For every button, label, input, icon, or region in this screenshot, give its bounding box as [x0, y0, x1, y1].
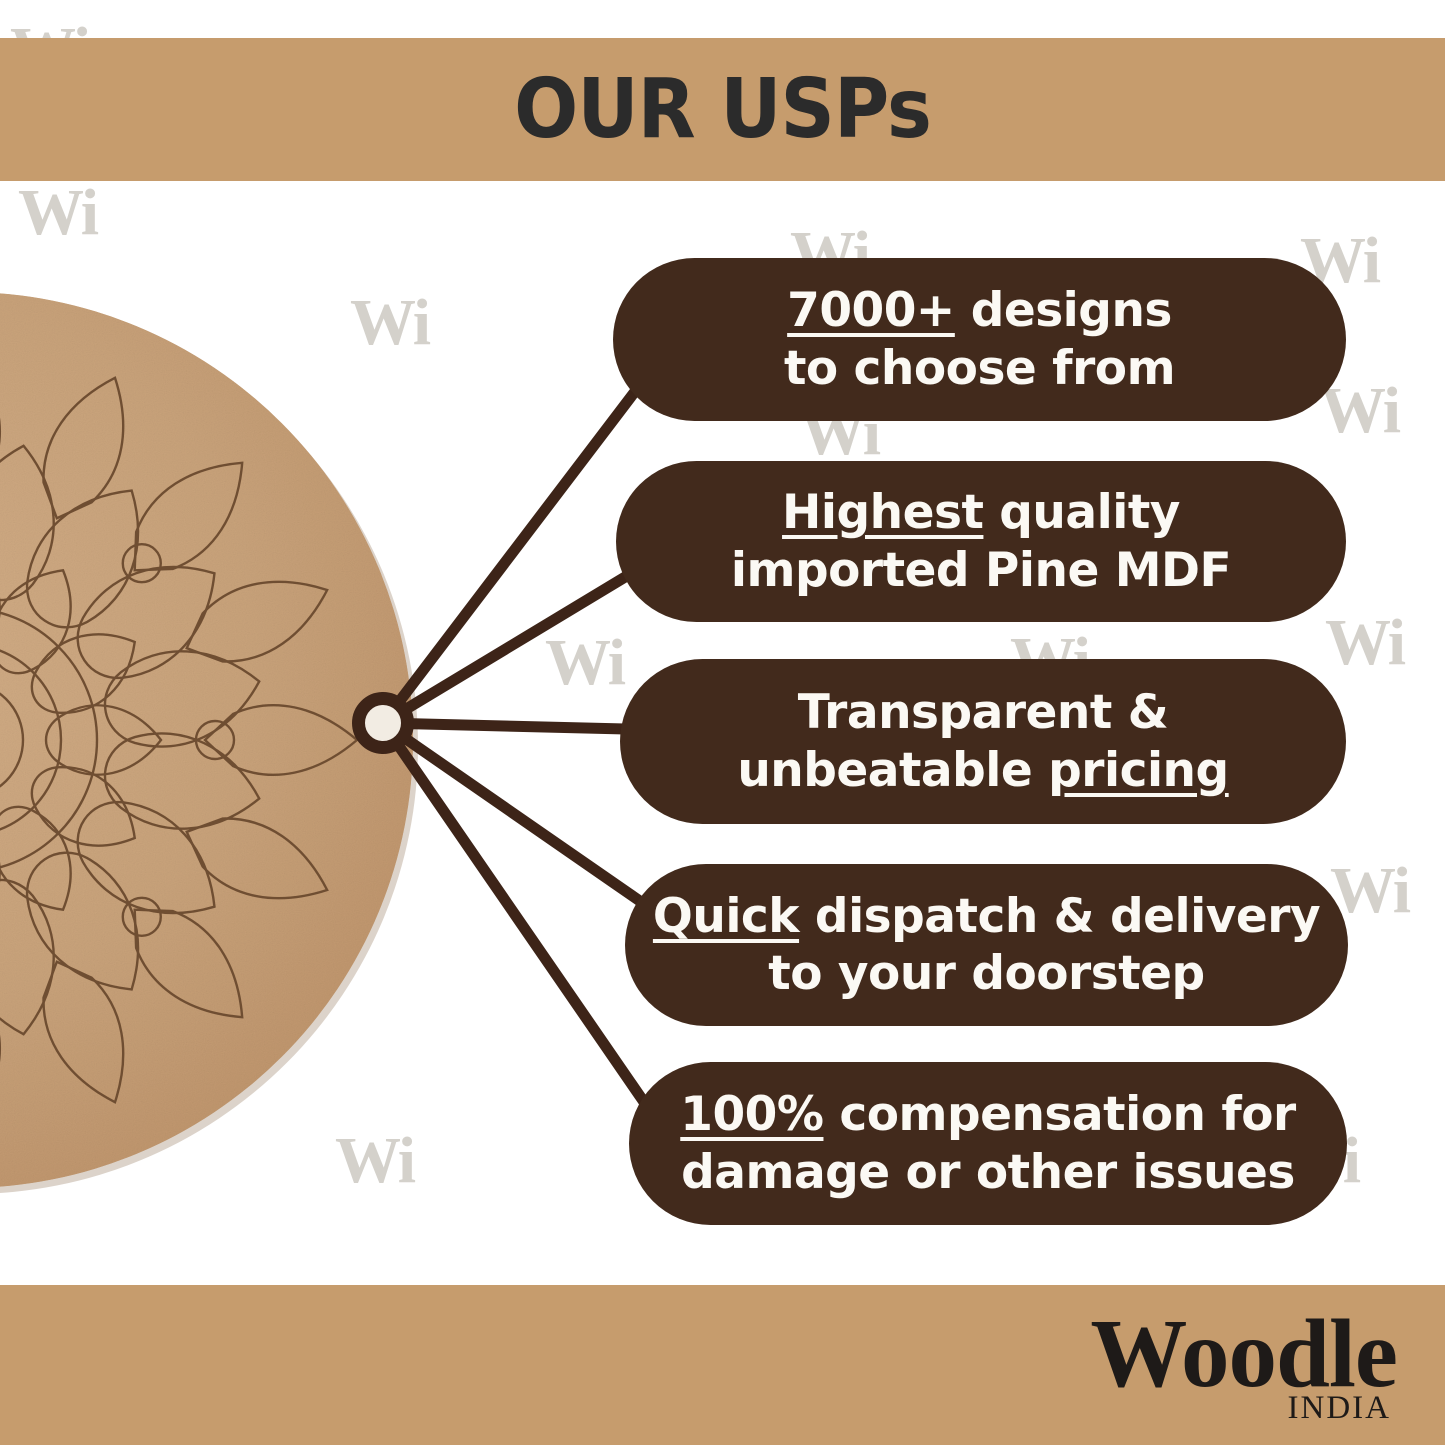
- usp-rest: designs: [955, 283, 1172, 338]
- usp-line-1: Transparent &: [798, 684, 1168, 741]
- usp-pill-material-quality[interactable]: Highest quality imported Pine MDF: [616, 461, 1346, 622]
- usp-emphasis: 7000+: [787, 283, 955, 338]
- usp-emphasis: pricing: [1048, 743, 1229, 798]
- usp-rest: compensation for: [823, 1087, 1295, 1142]
- brand-name: Woodle: [1090, 1305, 1397, 1402]
- usp-emphasis: 100%: [680, 1087, 823, 1142]
- usp-line-2: imported Pine MDF: [731, 542, 1231, 599]
- header-band: OUR USPs: [0, 38, 1445, 181]
- usp-pill-compensation[interactable]: 100% compensation for damage or other is…: [629, 1062, 1347, 1225]
- hub-node: [352, 692, 414, 754]
- watermark-text: Wi: [545, 630, 624, 696]
- usp-line-1: 100% compensation for: [680, 1086, 1295, 1143]
- usp-rest: quality: [983, 485, 1180, 540]
- usp-line-2: damage or other issues: [681, 1144, 1295, 1201]
- usp-line-1: 7000+ designs: [787, 282, 1172, 339]
- usp-line-1: Highest quality: [782, 484, 1180, 541]
- watermark-text: Wi: [1320, 378, 1399, 444]
- footer-band: Woodle INDIA: [0, 1285, 1445, 1445]
- usp-pill-pricing[interactable]: Transparent & unbeatable pricing: [620, 659, 1346, 824]
- page-title: OUR USPs: [514, 62, 931, 157]
- usp-prefix: unbeatable: [737, 743, 1048, 798]
- usp-line-2: to choose from: [784, 340, 1175, 397]
- usp-line-2: to your doorstep: [768, 945, 1204, 1002]
- usp-emphasis: Highest: [782, 485, 983, 540]
- usp-pill-dispatch-delivery[interactable]: Quick dispatch & delivery to your doorst…: [625, 864, 1348, 1026]
- usp-emphasis: Quick: [653, 889, 799, 944]
- usp-line-2: unbeatable pricing: [737, 742, 1228, 799]
- usp-pill-designs-count[interactable]: 7000+ designs to choose from: [613, 258, 1346, 421]
- infographic-canvas: Wi Wi Wi Wi Wi Wi Wi Wi Wi Wi Wi Wi Wi: [0, 0, 1445, 1445]
- watermark-text: Wi: [1325, 610, 1404, 676]
- usp-line-1: Quick dispatch & delivery: [653, 888, 1320, 945]
- usp-rest: dispatch & delivery: [799, 889, 1320, 944]
- watermark-text: Wi: [18, 180, 97, 246]
- brand-logo: Woodle INDIA: [1090, 1305, 1397, 1425]
